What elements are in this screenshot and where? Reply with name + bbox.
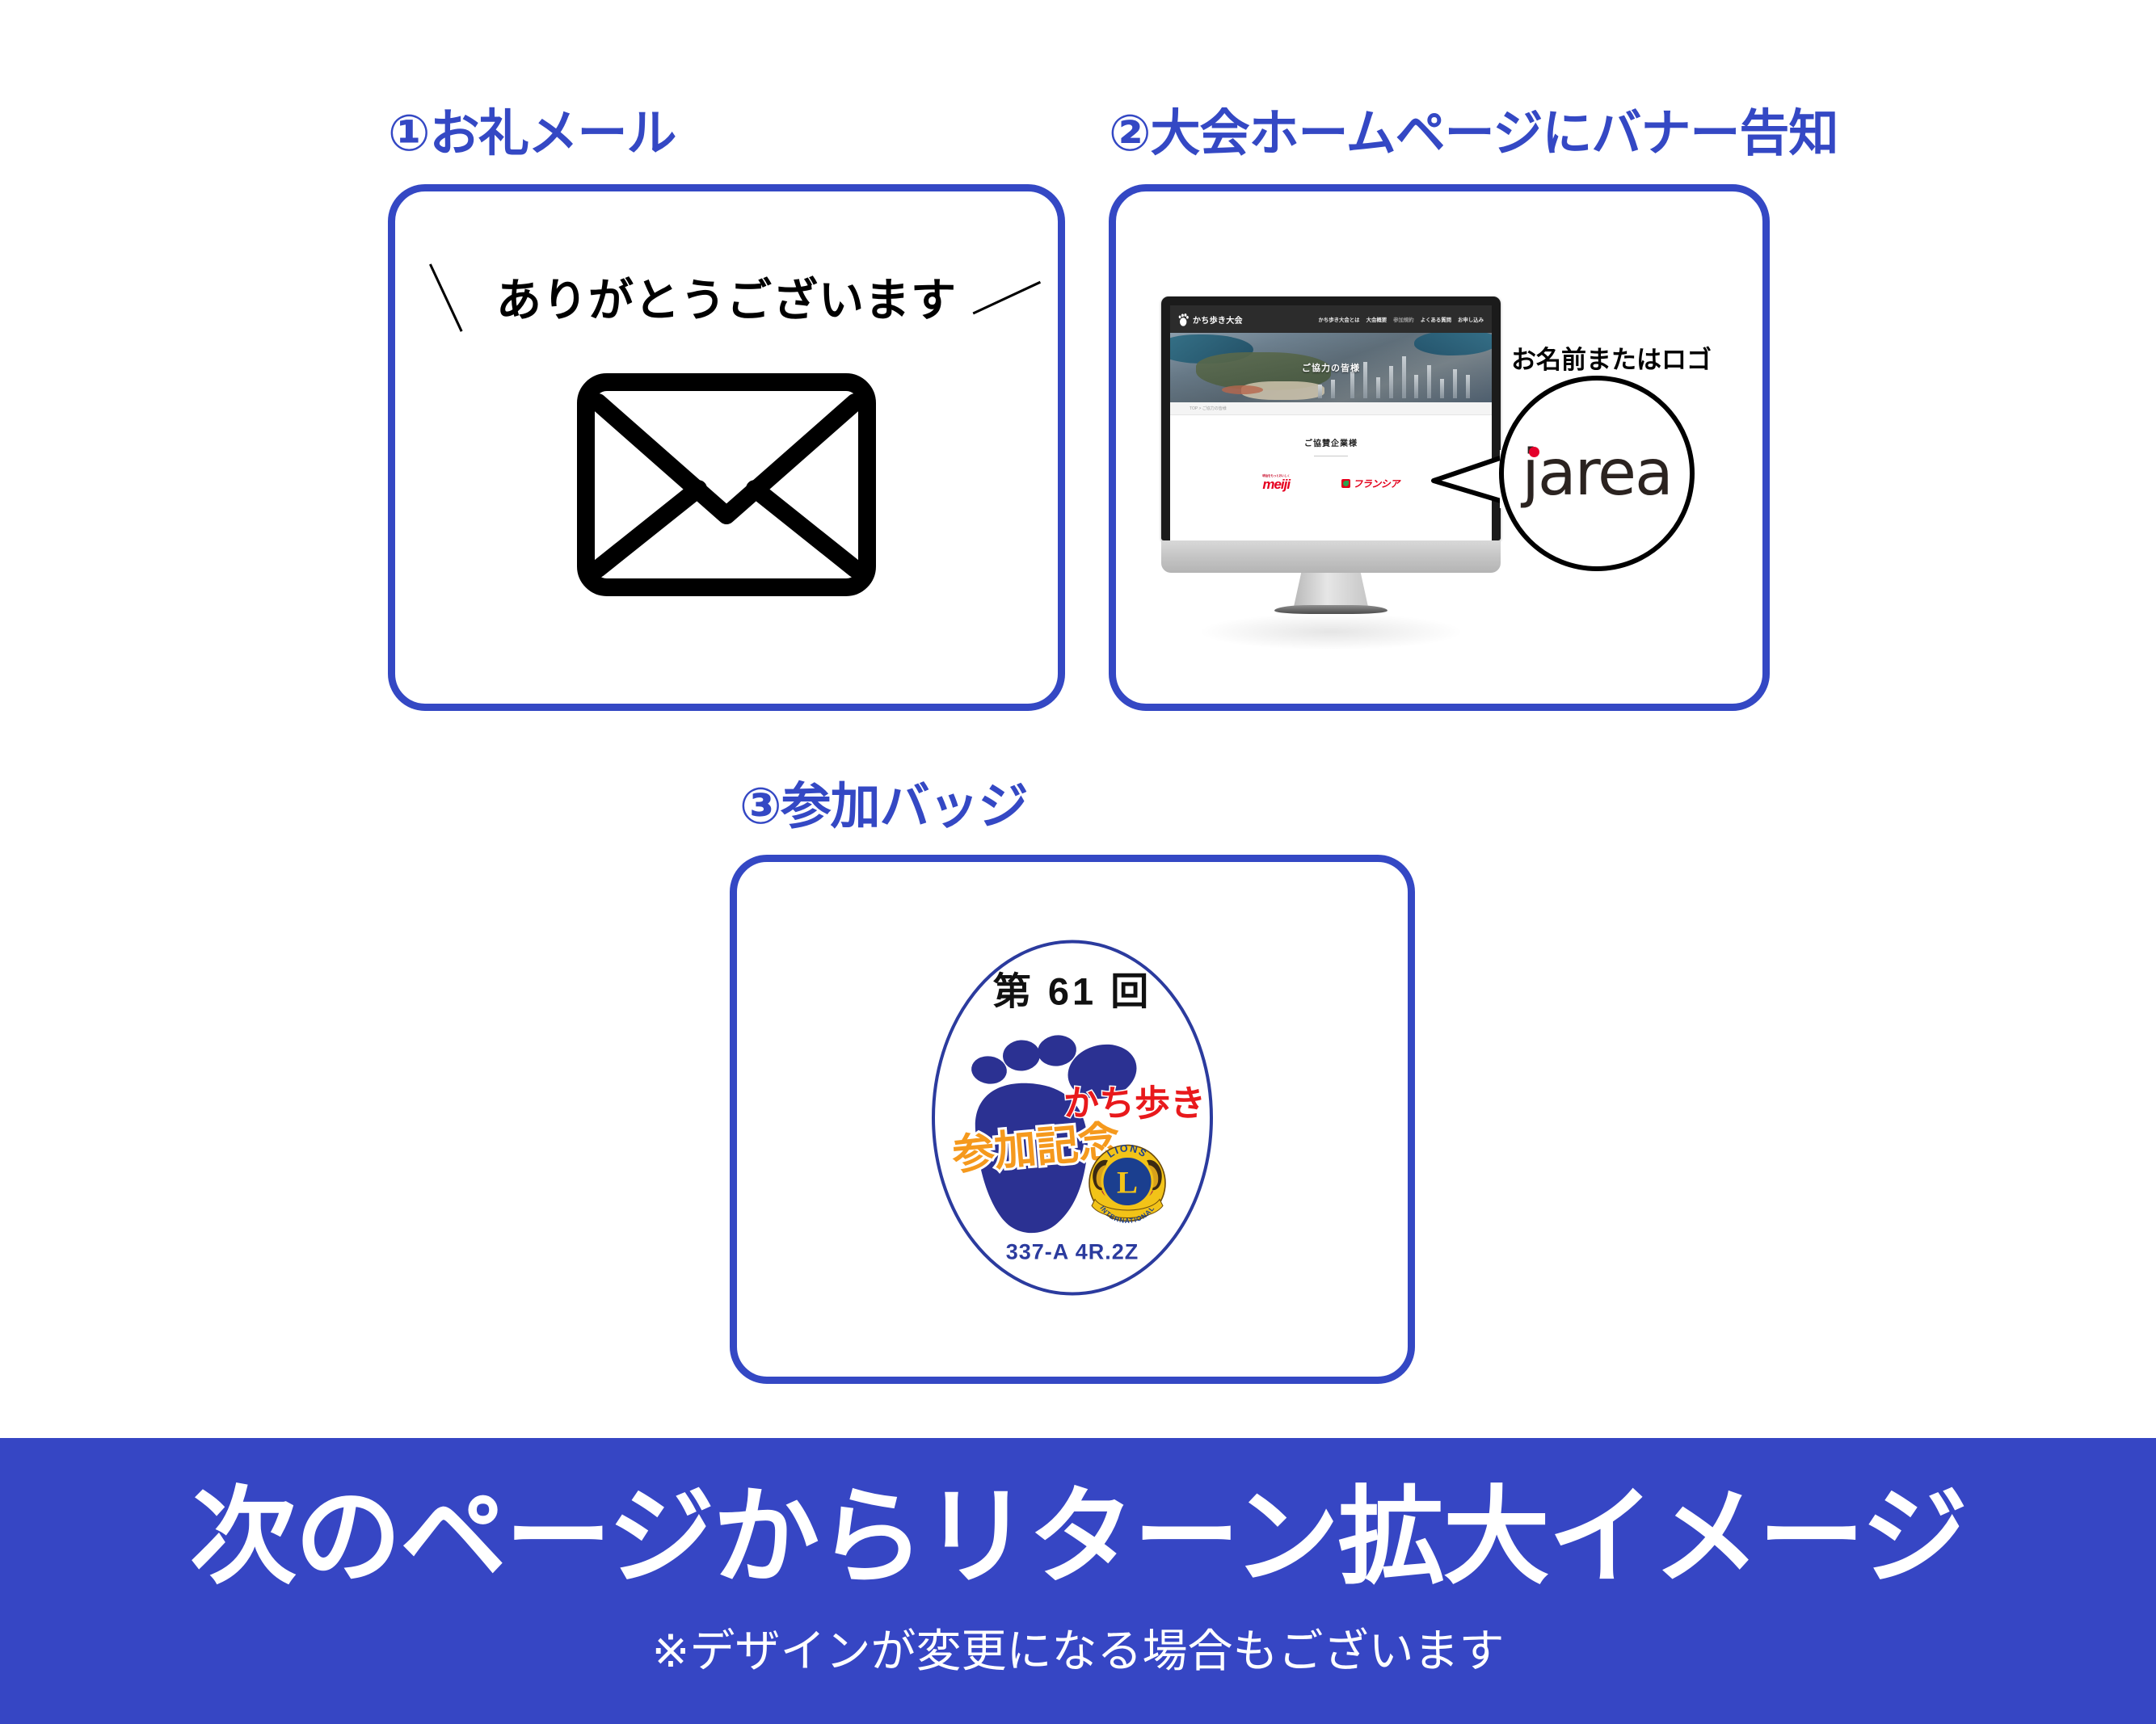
sponsors-heading: ご協賛企業様 <box>1170 436 1492 448</box>
breadcrumb: TOP > ご協力の皆様 <box>1170 402 1492 415</box>
site-menu-item-0[interactable]: かち歩き大会とは <box>1318 316 1359 323</box>
bottom-banner: 次のページからリターン拡大イメージ ※デザインが変更になる場合もございます <box>0 1438 2156 1724</box>
jarea-logo: jarea <box>1522 442 1672 505</box>
jarea-wordmark: jarea <box>1522 437 1672 510</box>
site-menu-item-3[interactable]: よくある質問 <box>1421 316 1451 323</box>
site-navbar: かち歩き大会 かち歩き大会とは 大会概要 参加規約 よくある質問 お申し込み <box>1170 305 1492 333</box>
monitor-reflection <box>1198 613 1464 650</box>
meiji-wordmark: meiji <box>1262 478 1290 490</box>
footprint-icon <box>1178 313 1189 326</box>
breadcrumb-text: TOP > ご協力の皆様 <box>1190 406 1227 411</box>
monitor-stand-neck <box>1294 573 1368 607</box>
francia-wordmark: フランシア <box>1353 477 1400 490</box>
hero-title: ご協力の皆様 <box>1170 361 1492 374</box>
slash-left-icon: ＼ <box>407 263 482 337</box>
card-participation-badge: 第 61 回 かち歩き 参加記念 <box>730 855 1415 1384</box>
francia-mark-icon <box>1341 479 1350 488</box>
thanks-row: ＼ ありがとうございます ／ <box>395 264 1058 330</box>
monitor-chin <box>1161 540 1501 573</box>
thanks-message: ありがとうございます <box>496 264 957 330</box>
sponsor-logo-meiji: 明治をもっとおいしく meiji <box>1262 474 1290 490</box>
envelope-icon <box>577 373 876 600</box>
participation-badge: 第 61 回 かち歩き 参加記念 <box>899 927 1246 1311</box>
heading-rule <box>1314 456 1348 456</box>
site-menu: かち歩き大会とは 大会概要 参加規約 よくある質問 お申し込み <box>1318 316 1484 323</box>
card-title-thank-you-mail: ①お礼メール <box>388 109 676 159</box>
site-menu-item-1[interactable]: 大会概要 <box>1366 316 1388 323</box>
svg-text:L: L <box>1117 1165 1138 1200</box>
badge-top-text: 第 61 回 <box>993 969 1152 1012</box>
banner-main-text: 次のページからリターン拡大イメージ <box>190 1482 1966 1594</box>
sponsor-logo-francia: フランシア <box>1341 477 1400 490</box>
card-title-website-banner: ②大会ホームページにバナー告知 <box>1109 109 1838 159</box>
site-menu-item-2[interactable]: 参加規約 <box>1393 316 1414 323</box>
page-root: ①お礼メール ＼ ありがとうございます ／ ②大会ホームページにバナー告知 <box>0 0 2156 1724</box>
site-menu-item-4[interactable]: お申し込み <box>1458 316 1484 323</box>
card-thank-you-mail: ＼ ありがとうございます ／ <box>388 184 1065 711</box>
site-logo-label: かち歩き大会 <box>1193 313 1243 326</box>
card-title-participation-badge: ③参加バッジ <box>739 782 1028 832</box>
site-logo[interactable]: かち歩き大会 <box>1178 313 1243 326</box>
badge-red-text: かち歩き <box>1063 1083 1206 1123</box>
badge-code-text: 337-A 4R.2Z <box>1006 1239 1139 1264</box>
callout-label: お名前またはロゴ <box>1511 339 1712 376</box>
callout-bubble: jarea <box>1499 376 1695 571</box>
banner-sub-text: ※デザインが変更になる場合もございます <box>652 1615 1505 1680</box>
slash-right-icon: ／ <box>968 263 1042 337</box>
site-hero-image: ご協力の皆様 <box>1170 333 1492 402</box>
